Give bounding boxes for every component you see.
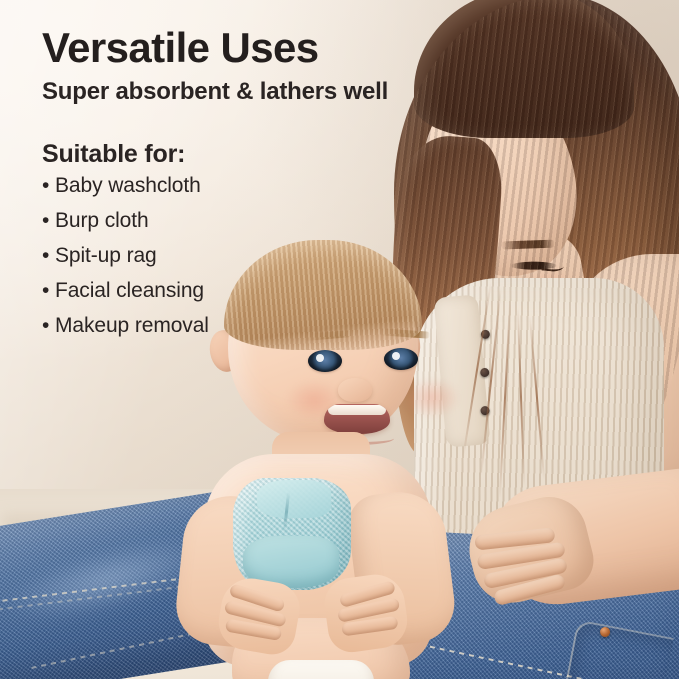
bullet-marker: • (42, 175, 55, 196)
list-item: •Facial cleansing (42, 280, 209, 301)
list-item-label: Makeup removal (55, 314, 209, 337)
list-item: •Baby washcloth (42, 175, 209, 196)
subheadline: Super absorbent & lathers well (42, 78, 388, 106)
headline: Versatile Uses (42, 26, 318, 71)
product-infographic-image: Versatile Uses Super absorbent & lathers… (0, 0, 679, 679)
benefit-list: •Baby washcloth •Burp cloth •Spit-up rag… (42, 175, 209, 350)
bullet-marker: • (42, 280, 55, 301)
list-item-label: Spit-up rag (55, 244, 157, 267)
bullet-marker: • (42, 315, 55, 336)
list-item: •Burp cloth (42, 210, 209, 231)
list-title: Suitable for: (42, 140, 185, 169)
list-item-label: Burp cloth (55, 209, 149, 232)
text-overlay: Versatile Uses Super absorbent & lathers… (0, 0, 679, 679)
list-item-label: Facial cleansing (55, 279, 204, 302)
list-item: •Makeup removal (42, 315, 209, 336)
bullet-marker: • (42, 245, 55, 266)
list-item: •Spit-up rag (42, 245, 209, 266)
bullet-marker: • (42, 210, 55, 231)
list-item-label: Baby washcloth (55, 174, 201, 197)
